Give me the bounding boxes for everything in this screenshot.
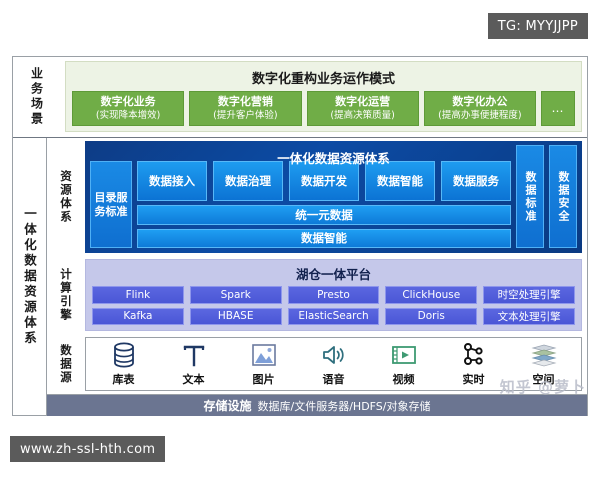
compute-engine-row: 计算引擎 湖仓一体平台 Flink Spark Presto ClickHous… — [47, 256, 587, 334]
realtime-nodes-icon — [461, 341, 487, 369]
engine-chip-presto[interactable]: Presto — [288, 286, 380, 304]
main-layers-column: 资源体系 一体化数据资源体系 目录服务标准 数据接入 数据治理 数据开发 数据智… — [47, 138, 587, 416]
business-card[interactable]: 数字化营销 (提升客户体验) — [189, 91, 301, 126]
data-source-label: 空间 — [533, 371, 555, 387]
storage-facility-title: 存储设施 — [204, 397, 252, 414]
business-card-title: 数字化办公 — [452, 94, 507, 109]
speaker-icon — [321, 341, 347, 369]
data-source-label: 文本 — [183, 371, 205, 387]
resource-system-title: 一体化数据资源体系 — [90, 148, 577, 167]
engine-chip-row: Flink Spark Presto ClickHouse 时空处理引擎 — [92, 286, 575, 304]
business-card[interactable]: 数字化办公 (提高办事便捷程度) — [424, 91, 536, 126]
architecture-diagram: 业务场景 数字化重构业务运作模式 数字化业务 (实现降本增效) 数字化营销 (提… — [12, 56, 588, 416]
business-card-title: 数字化营销 — [218, 94, 273, 109]
engine-chip-text-processing[interactable]: 文本处理引擎 — [483, 308, 575, 326]
engine-chip-kafka[interactable]: Kafka — [92, 308, 184, 326]
data-source-row: 数据源 库表 — [47, 334, 587, 394]
data-source-label: 图片 — [253, 371, 275, 387]
text-t-icon — [182, 341, 206, 369]
catalog-service-standard-box[interactable]: 目录服务标准 — [90, 161, 132, 248]
engine-chip-doris[interactable]: Doris — [385, 308, 477, 326]
business-card-subtitle: (实现降本增效) — [96, 109, 160, 123]
integrated-data-resource-band: 一体化数据资源体系 资源体系 一体化数据资源体系 目录服务标准 数据接入 数据治… — [13, 138, 587, 416]
data-source-label: 库表 — [113, 371, 135, 387]
engine-chip-hbase[interactable]: HBASE — [190, 308, 282, 326]
engine-chip-elasticsearch[interactable]: ElasticSearch — [288, 308, 380, 326]
engine-chip-grid: Flink Spark Presto ClickHouse 时空处理引擎 Kaf… — [92, 286, 575, 325]
engine-chip-flink[interactable]: Flink — [92, 286, 184, 304]
business-card[interactable]: 数字化运营 (提高决策质量) — [307, 91, 419, 126]
capability-chip-data-governance[interactable]: 数据治理 — [213, 161, 283, 201]
capability-chip-data-intelligence[interactable]: 数据智能 — [365, 161, 435, 201]
business-card-title: 数字化运营 — [335, 94, 390, 109]
data-source-item-realtime[interactable]: 实时 — [452, 341, 496, 387]
engine-chip-spark[interactable]: Spark — [190, 286, 282, 304]
business-card-title: … — [552, 101, 565, 116]
unified-metadata-bar[interactable]: 统一元数据 — [137, 205, 511, 225]
storage-facility-bar: 存储设施 数据库/文件服务器/HDFS/对象存储 — [47, 394, 587, 416]
business-card-subtitle: (提升客户体验) — [213, 109, 277, 123]
resource-system-panel: 一体化数据资源体系 目录服务标准 数据接入 数据治理 数据开发 数据智能 数据服… — [85, 141, 582, 253]
data-source-label: 实时 — [463, 371, 485, 387]
database-icon — [112, 341, 136, 369]
engine-chip-row: Kafka HBASE ElasticSearch Doris 文本处理引擎 — [92, 308, 575, 326]
video-icon — [391, 341, 417, 369]
telegram-watermark-text: TG: MYYJJPP — [498, 19, 578, 34]
data-intelligence-bar[interactable]: 数据智能 — [137, 229, 511, 249]
lakehouse-platform-panel: 湖仓一体平台 Flink Spark Presto ClickHouse 时空处… — [85, 259, 582, 331]
engine-chip-clickhouse[interactable]: ClickHouse — [385, 286, 477, 304]
data-source-panel: 库表 文本 — [85, 337, 582, 391]
data-source-item-text[interactable]: 文本 — [172, 341, 216, 387]
business-scenario-side-label: 业务场景 — [13, 57, 61, 137]
integrated-system-side-label: 一体化数据资源体系 — [13, 138, 47, 416]
image-icon — [251, 341, 277, 369]
resource-system-row: 资源体系 一体化数据资源体系 目录服务标准 数据接入 数据治理 数据开发 数据智… — [47, 138, 587, 256]
data-source-item-spatial[interactable]: 空间 — [522, 341, 566, 387]
data-source-label: 语音 — [323, 371, 345, 387]
business-scenario-card-list: 数字化业务 (实现降本增效) 数字化营销 (提升客户体验) 数字化运营 (提高决… — [72, 91, 575, 126]
data-source-item-image[interactable]: 图片 — [242, 341, 286, 387]
site-watermark-badge: www.zh-ssl-hth.com — [10, 436, 165, 462]
site-watermark-text: www.zh-ssl-hth.com — [20, 442, 155, 457]
capability-chip-data-ingest[interactable]: 数据接入 — [137, 161, 207, 201]
data-source-item-database[interactable]: 库表 — [102, 341, 146, 387]
engine-chip-spatiotemporal[interactable]: 时空处理引擎 — [483, 286, 575, 304]
compute-engine-side-label: 计算引擎 — [47, 256, 85, 334]
data-source-label: 视频 — [393, 371, 415, 387]
resource-center-stack: 数据接入 数据治理 数据开发 数据智能 数据服务 统一元数据 数据智能 — [137, 161, 511, 248]
resource-system-side-label: 资源体系 — [47, 138, 85, 256]
telegram-watermark-badge: TG: MYYJJPP — [488, 13, 588, 39]
resource-system-inner: 一体化数据资源体系 目录服务标准 数据接入 数据治理 数据开发 数据智能 数据服… — [90, 145, 577, 248]
storage-facility-detail: 数据库/文件服务器/HDFS/对象存储 — [258, 398, 431, 414]
lakehouse-platform-title: 湖仓一体平台 — [92, 262, 575, 286]
business-scenario-panel: 数字化重构业务运作模式 数字化业务 (实现降本增效) 数字化营销 (提升客户体验… — [65, 61, 582, 132]
data-source-side-label: 数据源 — [47, 334, 85, 394]
data-source-item-video[interactable]: 视频 — [382, 341, 426, 387]
resource-capability-chips: 数据接入 数据治理 数据开发 数据智能 数据服务 — [137, 161, 511, 201]
business-card-more[interactable]: … — [541, 91, 575, 126]
capability-chip-data-development[interactable]: 数据开发 — [289, 161, 359, 201]
map-layers-icon — [530, 341, 558, 369]
business-scenario-title: 数字化重构业务运作模式 — [72, 65, 575, 91]
business-card-subtitle: (提高决策质量) — [330, 109, 394, 123]
business-card-title: 数字化业务 — [101, 94, 156, 109]
business-card-subtitle: (提高办事便捷程度) — [438, 109, 521, 123]
business-card[interactable]: 数字化业务 (实现降本增效) — [72, 91, 184, 126]
capability-chip-data-service[interactable]: 数据服务 — [441, 161, 511, 201]
data-source-item-audio[interactable]: 语音 — [312, 341, 356, 387]
business-scenario-band: 业务场景 数字化重构业务运作模式 数字化业务 (实现降本增效) 数字化营销 (提… — [13, 57, 587, 138]
